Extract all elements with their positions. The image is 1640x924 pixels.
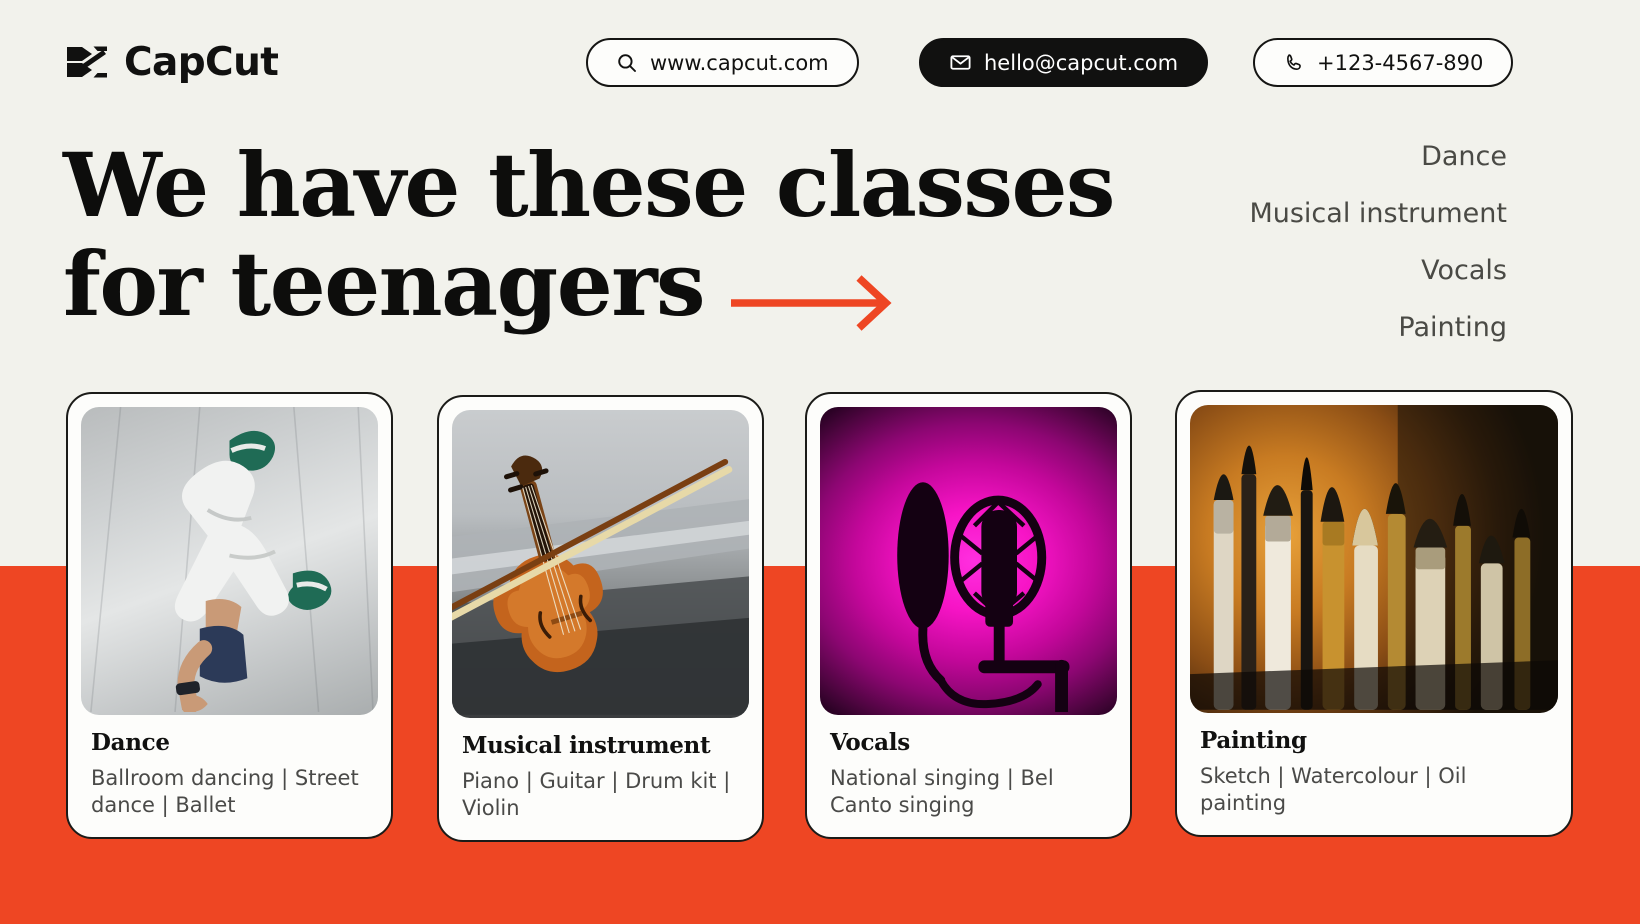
nav-item-musical-instrument[interactable]: Musical instrument xyxy=(1249,200,1507,227)
class-card-musical-instrument[interactable]: Musical instrument Piano | Guitar | Drum… xyxy=(437,395,764,842)
headline-line-1: We have these classes xyxy=(63,133,1114,237)
brand-logo[interactable]: CapCut xyxy=(63,38,278,86)
card-image-painting xyxy=(1190,405,1558,713)
nav-item-vocals[interactable]: Vocals xyxy=(1249,257,1507,284)
card-image-dance xyxy=(81,407,378,715)
contact-label-email: hello@capcut.com xyxy=(984,51,1178,75)
class-card-dance[interactable]: Dance Ballroom dancing | Street dance | … xyxy=(66,392,393,839)
breakdancer-illustration xyxy=(81,407,378,712)
contact-label-phone: +123-4567-890 xyxy=(1317,51,1483,75)
paintbrushes-illustration xyxy=(1190,405,1558,710)
contact-pill-phone[interactable]: +123-4567-890 xyxy=(1253,38,1513,87)
search-icon xyxy=(616,52,638,74)
class-card-vocals[interactable]: Vocals National singing | Bel Canto sing… xyxy=(805,392,1132,839)
headline-line-2: for teenagers xyxy=(63,235,1153,334)
card-subtitle-painting: Sketch | Watercolour | Oil painting xyxy=(1200,763,1548,817)
card-title-musical-instrument: Musical instrument xyxy=(462,732,739,759)
nav-item-painting[interactable]: Painting xyxy=(1249,314,1507,341)
page-header: CapCut www.capcut.com hello@capcut.com +… xyxy=(0,0,1640,125)
class-card-painting[interactable]: Painting Sketch | Watercolour | Oil pain… xyxy=(1175,390,1573,837)
mail-icon xyxy=(949,51,972,74)
arrow-right-icon[interactable] xyxy=(728,272,900,334)
brand-name: CapCut xyxy=(124,40,278,85)
contact-pill-website[interactable]: www.capcut.com xyxy=(586,38,859,87)
nav-item-dance[interactable]: Dance xyxy=(1249,143,1507,170)
microphone-illustration xyxy=(820,407,1117,712)
card-subtitle-vocals: National singing | Bel Canto singing xyxy=(830,765,1107,819)
card-subtitle-musical-instrument: Piano | Guitar | Drum kit | Violin xyxy=(462,768,739,822)
card-text-vocals: Vocals National singing | Bel Canto sing… xyxy=(820,715,1117,837)
category-nav: Dance Musical instrument Vocals Painting xyxy=(1249,143,1507,341)
card-image-musical-instrument xyxy=(452,410,749,718)
card-image-vocals xyxy=(820,407,1117,715)
card-title-painting: Painting xyxy=(1200,727,1548,754)
violin-illustration xyxy=(452,410,749,715)
card-title-dance: Dance xyxy=(91,729,368,756)
contact-label-website: www.capcut.com xyxy=(650,51,829,75)
card-text-musical-instrument: Musical instrument Piano | Guitar | Drum… xyxy=(452,718,749,840)
capcut-logo-icon xyxy=(63,38,111,86)
card-text-painting: Painting Sketch | Watercolour | Oil pain… xyxy=(1190,713,1558,835)
contact-pill-email[interactable]: hello@capcut.com xyxy=(919,38,1208,87)
page-title: We have these classes for teenagers xyxy=(63,136,1153,333)
card-text-dance: Dance Ballroom dancing | Street dance | … xyxy=(81,715,378,837)
card-title-vocals: Vocals xyxy=(830,729,1107,756)
phone-icon xyxy=(1283,52,1305,74)
card-subtitle-dance: Ballroom dancing | Street dance | Ballet xyxy=(91,765,368,819)
